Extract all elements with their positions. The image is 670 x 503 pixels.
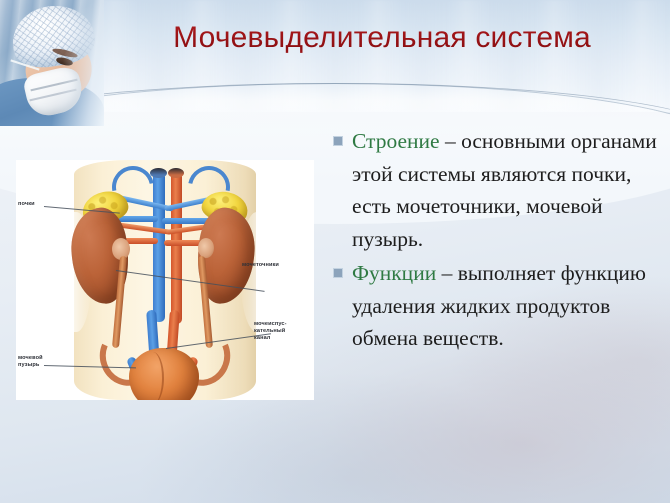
diagram-label-ureters: мочеточники xyxy=(242,262,279,269)
bullet-square-icon xyxy=(333,136,343,146)
aorta-stub xyxy=(168,168,184,178)
vena-cava-stub xyxy=(150,168,167,178)
diagram-label-bladder: мочевой пузырь xyxy=(18,355,43,369)
bullet-text-functions: Функции – выполняет функцию удаления жид… xyxy=(352,257,659,355)
list-item: Функции – выполняет функцию удаления жид… xyxy=(333,257,659,355)
diagram-label-urethra: мочеиспус- кательный канал xyxy=(254,321,287,342)
list-item: Строение – основными органами этой систе… xyxy=(333,125,659,255)
bladder-highlight-seam xyxy=(142,352,164,400)
renal-hilum-right xyxy=(198,238,214,258)
diagram-label-kidneys: почки xyxy=(18,201,35,208)
aorta xyxy=(171,172,182,324)
presentation-slide: Мочевыделительная система xyxy=(0,0,670,503)
urinary-bladder xyxy=(129,348,199,400)
content-text-block: Строение – основными органами этой систе… xyxy=(333,125,659,357)
photo-edge-fade xyxy=(0,0,104,126)
urinary-system-diagram: почки мочеточники мочеиспус- кательный к… xyxy=(16,160,314,400)
bullet-text-structure: Строение – основными органами этой систе… xyxy=(352,125,659,255)
bullet-keyword-structure: Строение xyxy=(352,129,440,153)
page-title: Мочевыделительная система xyxy=(104,18,660,58)
bullet-keyword-functions: Функции xyxy=(352,261,436,285)
bullet-square-icon xyxy=(333,268,343,278)
vena-cava xyxy=(153,172,165,322)
surgeon-photo xyxy=(0,0,104,126)
